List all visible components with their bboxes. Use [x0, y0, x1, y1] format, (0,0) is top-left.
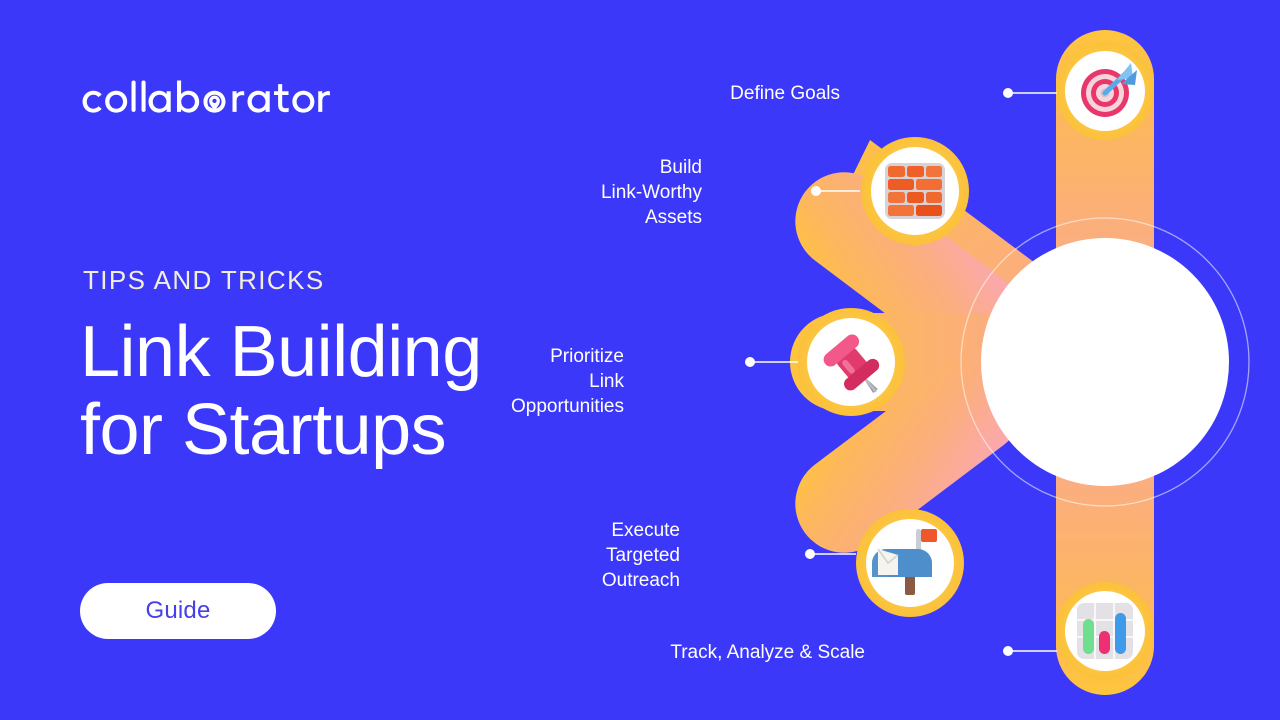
collaborator-wordmark-icon: [80, 76, 330, 122]
bar-chart-icon: [1077, 603, 1133, 659]
petal-label-prioritize-link-opportunities[interactable]: Prioritize Link Opportunities: [511, 344, 624, 419]
guide-button-label: Guide: [145, 597, 210, 625]
page-title: Link Building for Startups: [80, 313, 482, 469]
badge-define-goals[interactable]: [1056, 42, 1154, 140]
brick-wall-icon: [885, 163, 945, 219]
eyebrow-text: TIPS AND TRICKS: [83, 267, 325, 293]
badge-build-link-worthy-assets[interactable]: [861, 137, 969, 245]
badge-execute-targeted-outreach[interactable]: [856, 509, 964, 617]
petal-diagram-graphic: [560, 0, 1280, 720]
guide-button[interactable]: Guide: [80, 583, 276, 639]
link-building-process-diagram: Define Goals Build Link-Worthy Assets Pr…: [560, 0, 1280, 720]
center-circle: [981, 238, 1229, 486]
badge-prioritize-link-opportunities[interactable]: [797, 308, 905, 416]
petal-label-track-analyze-scale[interactable]: Track, Analyze & Scale: [670, 640, 865, 665]
badge-track-analyze-scale[interactable]: [1056, 582, 1154, 680]
petal-label-define-goals[interactable]: Define Goals: [730, 81, 840, 106]
petal-label-build-link-worthy-assets[interactable]: Build Link-Worthy Assets: [601, 155, 702, 230]
brand-logo[interactable]: [80, 76, 330, 122]
petal-label-execute-targeted-outreach[interactable]: Execute Targeted Outreach: [602, 518, 680, 593]
